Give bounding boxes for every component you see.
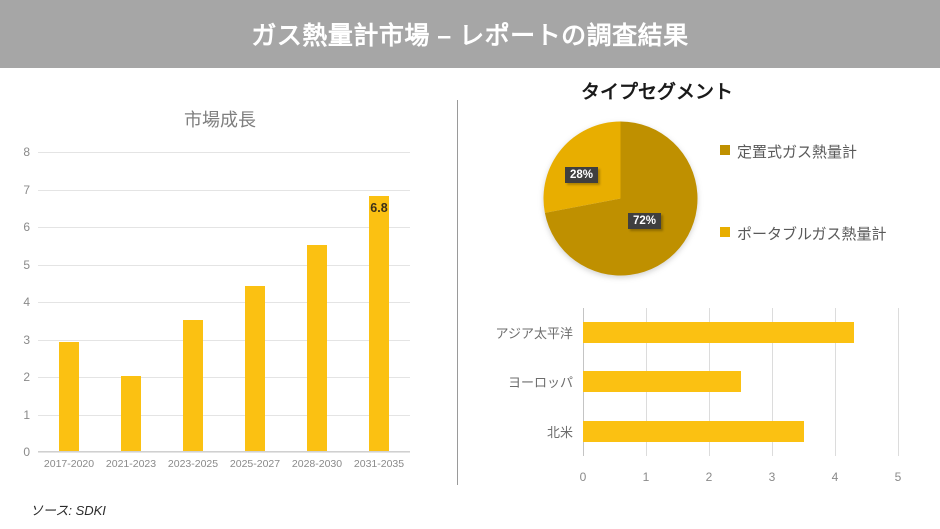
column-chart-x-labels: 2017-20202021-20232023-20252025-20272028… xyxy=(38,458,410,470)
x-axis-tick: 3 xyxy=(769,470,776,484)
column-chart-bars: 6.8 xyxy=(38,151,410,451)
region-bar xyxy=(583,322,854,343)
legend-label: 定置式ガス熱量計 xyxy=(737,140,857,166)
market-growth-plot: 876543210 6.8 xyxy=(38,152,410,452)
pie-svg xyxy=(543,121,698,276)
type-segment-pie: 28% 72% xyxy=(543,121,698,276)
y-axis-tick: 4 xyxy=(23,295,30,309)
y-axis-tick: 6 xyxy=(23,220,30,234)
region-bar xyxy=(583,371,741,392)
y-axis-tick: 2 xyxy=(23,370,30,384)
x-axis-label: 2031-2035 xyxy=(348,458,410,470)
x-axis-label: 2028-2030 xyxy=(286,458,348,470)
column-bar xyxy=(183,320,202,451)
legend-item[interactable]: ポータブルガス熱量計 xyxy=(720,222,940,248)
pie-legend: 定置式ガス熱量計ポータブルガス熱量計 xyxy=(720,140,940,304)
region-bar-row: 北米 xyxy=(583,407,898,456)
column-chart-baseline xyxy=(38,451,410,452)
region-category-label: アジア太平洋 xyxy=(496,323,573,342)
region-category-label: 北米 xyxy=(547,422,573,441)
column-value-label: 6.8 xyxy=(369,201,388,215)
gridline xyxy=(898,308,899,456)
column-slot: 6.8 xyxy=(348,151,410,451)
legend-item[interactable]: 定置式ガス熱量計 xyxy=(720,140,940,166)
x-axis-tick: 1 xyxy=(643,470,650,484)
legend-swatch-icon xyxy=(720,227,730,237)
source-note: ソース: SDKI xyxy=(30,500,106,519)
y-axis-tick: 5 xyxy=(23,258,30,272)
pie-label-minor: 28% xyxy=(565,167,598,183)
y-axis-tick: 0 xyxy=(23,445,30,459)
region-bar-row: ヨーロッパ xyxy=(583,357,898,406)
region-bar-plot: アジア太平洋ヨーロッパ北米 012345 xyxy=(583,308,898,456)
x-axis-label: 2025-2027 xyxy=(224,458,286,470)
region-bar xyxy=(583,421,804,442)
column-bar: 6.8 xyxy=(369,196,388,451)
region-bar-row: アジア太平洋 xyxy=(583,308,898,357)
x-axis-tick: 5 xyxy=(895,470,902,484)
type-segment-title: タイプセグメント xyxy=(457,77,857,104)
y-axis-tick: 1 xyxy=(23,408,30,422)
column-slot xyxy=(224,151,286,451)
x-axis-tick: 2 xyxy=(706,470,713,484)
type-segment-panel: タイプセグメント 28% 72% 定置式ガス熱量計ポータブルガス熱量計 アジア太… xyxy=(457,0,940,529)
column-bar xyxy=(245,286,264,451)
region-chart-bars: アジア太平洋ヨーロッパ北米 xyxy=(583,308,898,456)
column-bar xyxy=(307,245,326,451)
x-axis-label: 2023-2025 xyxy=(162,458,224,470)
column-slot xyxy=(286,151,348,451)
column-slot xyxy=(162,151,224,451)
column-bar xyxy=(121,376,140,451)
market-growth-panel: 市場成長 876543210 6.8 2017-20202021-2023202… xyxy=(0,68,457,529)
y-axis-tick: 8 xyxy=(23,145,30,159)
region-bar-chart: アジア太平洋ヨーロッパ北米 012345 xyxy=(457,300,940,485)
pie-label-major: 72% xyxy=(628,213,661,229)
gridline: 0 xyxy=(38,452,410,453)
column-slot xyxy=(100,151,162,451)
x-axis-tick: 4 xyxy=(832,470,839,484)
legend-swatch-icon xyxy=(720,145,730,155)
market-growth-title: 市場成長 xyxy=(0,106,440,132)
x-axis-tick: 0 xyxy=(580,470,587,484)
column-slot xyxy=(38,151,100,451)
region-category-label: ヨーロッパ xyxy=(508,372,573,391)
y-axis-tick: 7 xyxy=(23,183,30,197)
legend-label: ポータブルガス熱量計 xyxy=(737,222,887,248)
x-axis-label: 2017-2020 xyxy=(38,458,100,470)
column-bar xyxy=(59,342,78,451)
y-axis-tick: 3 xyxy=(23,333,30,347)
x-axis-label: 2021-2023 xyxy=(100,458,162,470)
